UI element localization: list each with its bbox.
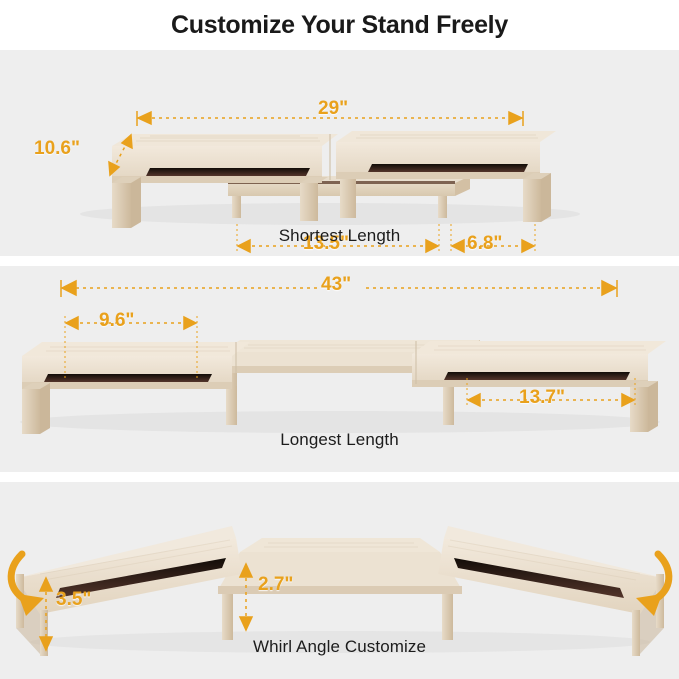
caption-longest-length: Longest Length — [0, 430, 679, 450]
panel-divider-2 — [0, 472, 679, 482]
caption-whirl-angle: Whirl Angle Customize — [0, 637, 679, 657]
panel-whirl-angle: 3.5" 2.7" Whirl Angle Customize — [0, 482, 679, 679]
infographic-page: Customize Your Stand Freely — [0, 0, 679, 669]
panel-longest-length: 43" 9.6" 13.7" Longest Length — [0, 266, 679, 472]
dimension-total-width-43: 43" — [321, 274, 351, 296]
dimension-platform-depth-10-6: 10.6" — [34, 138, 80, 160]
dimension-total-width-29: 29" — [318, 98, 348, 120]
caption-shortest-length: Shortest Length — [0, 226, 679, 246]
panel-shortest-length: 29" 10.6" 13.5" 6.8" Shortest Length — [0, 50, 679, 256]
dimension-platform-width-9-6: 9.6" — [99, 310, 134, 332]
panel-divider-1 — [0, 256, 679, 266]
dimension-side-height-3-5: 3.5" — [56, 589, 91, 611]
header: Customize Your Stand Freely — [0, 0, 679, 50]
dimension-center-height-2-7: 2.7" — [258, 574, 293, 596]
page-title: Customize Your Stand Freely — [171, 11, 508, 40]
dimension-center-shelf-13-7: 13.7" — [519, 387, 565, 409]
